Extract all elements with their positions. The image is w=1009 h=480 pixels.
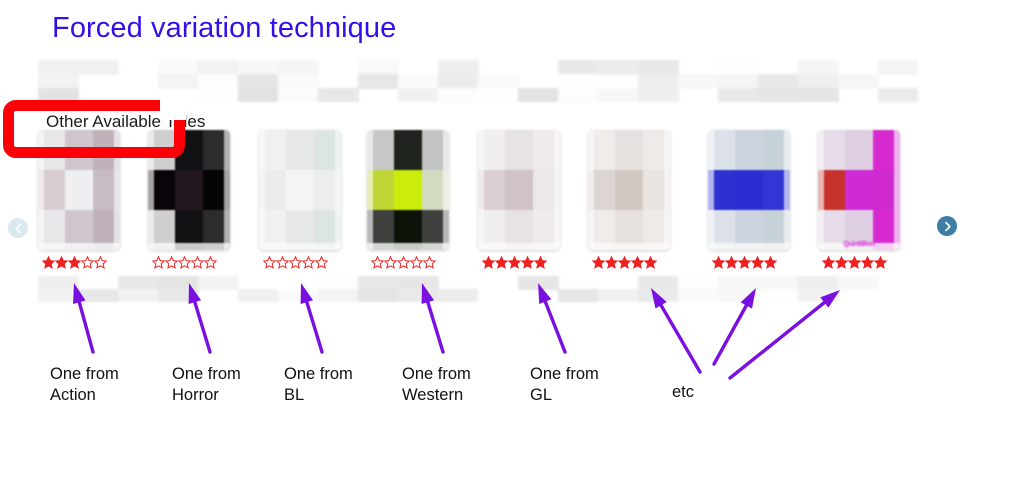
card-extra-2[interactable] [708,130,790,250]
blurred-pixel-cell [598,289,639,302]
cover-edge-right [554,130,560,250]
blurred-pixel-cell [718,88,759,102]
arrow-shaft [193,296,210,352]
card-gl[interactable] [478,130,560,250]
card-rating[interactable] [822,256,887,270]
rating-star [835,256,848,269]
blurred-pixel-cell [558,289,599,302]
cover-art-block [286,130,314,171]
callout-line-2: Action [50,385,119,406]
blurred-content-band-top [38,60,918,102]
card-bl[interactable] [259,130,341,250]
rating-star [712,256,725,269]
card-rating[interactable] [42,256,107,270]
cover-art-block [286,170,314,211]
rating-star [508,256,521,269]
blurred-pixel-cell [638,88,679,102]
blurred-pixel-cell [798,88,839,102]
callout-gl: One fromGL [530,364,599,406]
arrow-shaft [714,300,749,364]
rating-star [618,256,631,269]
blurred-pixel-cell [78,60,119,75]
blurred-pixel-cell [238,276,279,290]
rating-star [191,256,204,269]
blurred-pixel-cell [158,60,199,75]
blurred-pixel-cell [558,60,599,75]
rating-star [315,256,328,269]
card-rating[interactable] [371,256,436,270]
blurred-pixel-cell [118,289,159,302]
cover-edge-left [259,130,265,250]
blurred-pixel-cell [678,289,719,302]
page-title: Forced variation technique [52,12,396,45]
card-rating[interactable] [592,256,657,270]
blurred-pixel-cell [398,289,439,302]
cover-edge-right [784,130,790,250]
blurred-pixel-cell [398,74,439,89]
callout-line-1: One from [50,364,119,385]
cover-art-block [845,170,873,211]
carousel-next-button[interactable] [937,216,957,236]
blurred-pixel-cell [478,289,519,302]
blurred-pixel-cell [518,88,559,102]
card-rating[interactable] [482,256,547,270]
blurred-pixel-cell [158,74,199,89]
blurred-pixel-cell [798,74,839,89]
blurred-pixel-cell [678,74,719,89]
blurred-pixel-cell [598,60,639,75]
card-rating[interactable] [263,256,328,270]
rating-star [152,256,165,269]
blurred-pixel-cell [438,289,479,302]
blurred-pixel-cell [838,74,879,89]
blurred-pixel-cell [478,88,519,102]
rating-star [94,256,107,269]
rating-star [495,256,508,269]
cover-art-block [615,130,643,171]
blurred-pixel-cell [198,276,239,290]
blurred-pixel-cell [358,276,399,290]
blurred-pixel-cell [518,276,559,290]
cover-edge-bottom [588,243,670,250]
cover-edge-right [894,130,900,250]
rating-star [384,256,397,269]
cover-art-block [735,130,763,171]
blurred-pixel-cell [798,276,839,290]
red-annotation-box-gap [160,100,186,120]
cover-art-block [175,170,203,211]
blurred-pixel-cell [758,276,799,290]
blurred-pixel-cell [718,74,759,89]
blurred-pixel-cell [158,289,199,302]
rating-star [644,256,657,269]
blurred-pixel-cell [238,289,279,302]
blurred-pixel-cell [838,276,879,290]
blurred-pixel-cell [558,88,599,102]
chevron-right-icon [942,221,953,232]
card-western[interactable] [367,130,449,250]
rating-star [42,256,55,269]
blurred-pixel-cell [398,88,439,102]
rating-star [81,256,94,269]
rating-star [592,256,605,269]
rating-star [751,256,764,269]
card-rating[interactable] [712,256,777,270]
cover-art-block [505,130,533,171]
callout-line-1: One from [402,364,471,385]
arrow-shaft [543,296,565,352]
cover-art-block [394,130,422,171]
cover-edge-bottom [478,243,560,250]
cover-edge-left [478,130,484,250]
callout-horror: One fromHorror [172,364,241,406]
blurred-pixel-cell [558,74,599,89]
blurred-pixel-cell [198,74,239,89]
rating-star [302,256,315,269]
cover-art-block [505,170,533,211]
callout-bl: One fromBL [284,364,353,406]
blurred-content-band-bottom [38,276,918,302]
blurred-pixel-cell [238,74,279,89]
cover-art-block [615,170,643,211]
chevron-left-icon [13,223,24,234]
cover-edge-left [588,130,594,250]
blurred-pixel-cell [718,276,759,290]
blurred-pixel-cell [38,276,79,290]
blurred-pixel-cell [758,88,799,102]
blurred-pixel-cell [198,60,239,75]
blurred-pixel-cell [318,276,359,290]
blurred-pixel-cell [38,289,79,302]
rating-star [410,256,423,269]
blurred-pixel-cell [638,289,679,302]
blurred-pixel-cell [38,60,79,75]
blurred-pixel-cell [758,289,799,302]
blurred-pixel-cell [718,60,759,75]
rating-star [521,256,534,269]
blurred-pixel-cell [238,60,279,75]
blurred-pixel-cell [798,60,839,75]
callout-action: One fromAction [50,364,119,406]
cover-edge-bottom [367,243,449,250]
blurred-pixel-cell [758,74,799,89]
red-annotation-box [3,100,185,158]
card-extra-1[interactable] [588,130,670,250]
cover-edge-bottom [38,243,120,250]
rating-star [861,256,874,269]
blurred-pixel-cell [878,60,918,75]
blurred-pixel-cell [638,60,679,75]
callout-line-1: One from [172,364,241,385]
callout-line-1: etc [672,382,694,403]
rating-star [848,256,861,269]
blurred-pixel-cell [798,289,839,302]
cover-art-block [65,170,93,211]
cover-edge-right [335,130,341,250]
blurred-pixel-cell [878,88,918,102]
arrow-shaft [658,300,700,372]
blurred-pixel-cell [318,289,359,302]
blurred-pixel-cell [278,289,319,302]
blurred-pixel-cell [638,276,679,290]
blurred-pixel-cell [118,276,159,290]
blurred-pixel-cell [758,60,799,75]
blurred-pixel-cell [358,289,399,302]
blurred-pixel-cell [78,289,119,302]
blurred-pixel-cell [718,289,759,302]
screenshot-stage: Forced variation technique Other Availab… [0,0,1009,480]
arrow-shaft [305,296,322,352]
arrow-shaft [78,296,93,352]
rating-star [423,256,436,269]
rating-star [371,256,384,269]
blurred-pixel-cell [438,88,479,102]
blurred-pixel-cell [278,88,319,102]
arrow-shaft [730,299,829,378]
card-rating[interactable] [152,256,217,270]
cover-art-block [735,170,763,211]
cover-art-block [394,170,422,211]
rating-star [605,256,618,269]
rating-star [397,256,410,269]
blurred-pixel-cell [358,74,399,89]
callout-line-2: Horror [172,385,241,406]
blurred-pixel-cell [598,88,639,102]
blurred-pixel-cell [678,276,719,290]
callout-western: One fromWestern [402,364,471,406]
cover-edge-right [443,130,449,250]
rating-star [738,256,751,269]
blurred-pixel-cell [438,74,479,89]
blurred-pixel-cell [318,88,359,102]
callout-line-2: GL [530,385,599,406]
cover-edge-bottom [259,243,341,250]
cover-edge-left [708,130,714,250]
cover-edge-bottom [708,243,790,250]
rating-star [874,256,887,269]
blurred-pixel-cell [38,74,79,89]
callout-line-1: One from [530,364,599,385]
rating-star [534,256,547,269]
blurred-pixel-cell [358,60,399,75]
cover-edge-right [224,130,230,250]
blurred-pixel-cell [438,60,479,75]
callout-line-2: BL [284,385,353,406]
blurred-pixel-cell [398,276,439,290]
rating-star [276,256,289,269]
blurred-pixel-cell [638,74,679,89]
rating-star [822,256,835,269]
rating-star [263,256,276,269]
blurred-pixel-cell [278,60,319,75]
rating-star [68,256,81,269]
callout-line-2: Western [402,385,471,406]
rating-star [204,256,217,269]
blurred-pixel-cell [158,276,199,290]
blurred-pixel-cell [198,88,239,102]
callout-line-1: One from [284,364,353,385]
rating-star [764,256,777,269]
cover-edge-left [818,130,824,250]
rating-star [55,256,68,269]
blurred-pixel-cell [478,74,519,89]
rating-star [725,256,738,269]
arrow-etc-3 [730,290,840,378]
card-extra-3[interactable]: Quintillion [818,130,900,250]
cover-title-text: Quintillion [818,241,900,248]
callout-etc: etc [672,382,694,403]
rating-star [178,256,191,269]
arrow-shaft [426,296,443,352]
blurred-pixel-cell [238,88,279,102]
rating-star [482,256,495,269]
rating-star [165,256,178,269]
rating-star [631,256,644,269]
carousel-prev-button[interactable] [8,218,28,238]
cover-edge-bottom [148,243,230,250]
rating-star [289,256,302,269]
cover-edge-left [367,130,373,250]
blurred-pixel-cell [278,74,319,89]
cover-edge-right [664,130,670,250]
cover-art-block [845,130,873,171]
